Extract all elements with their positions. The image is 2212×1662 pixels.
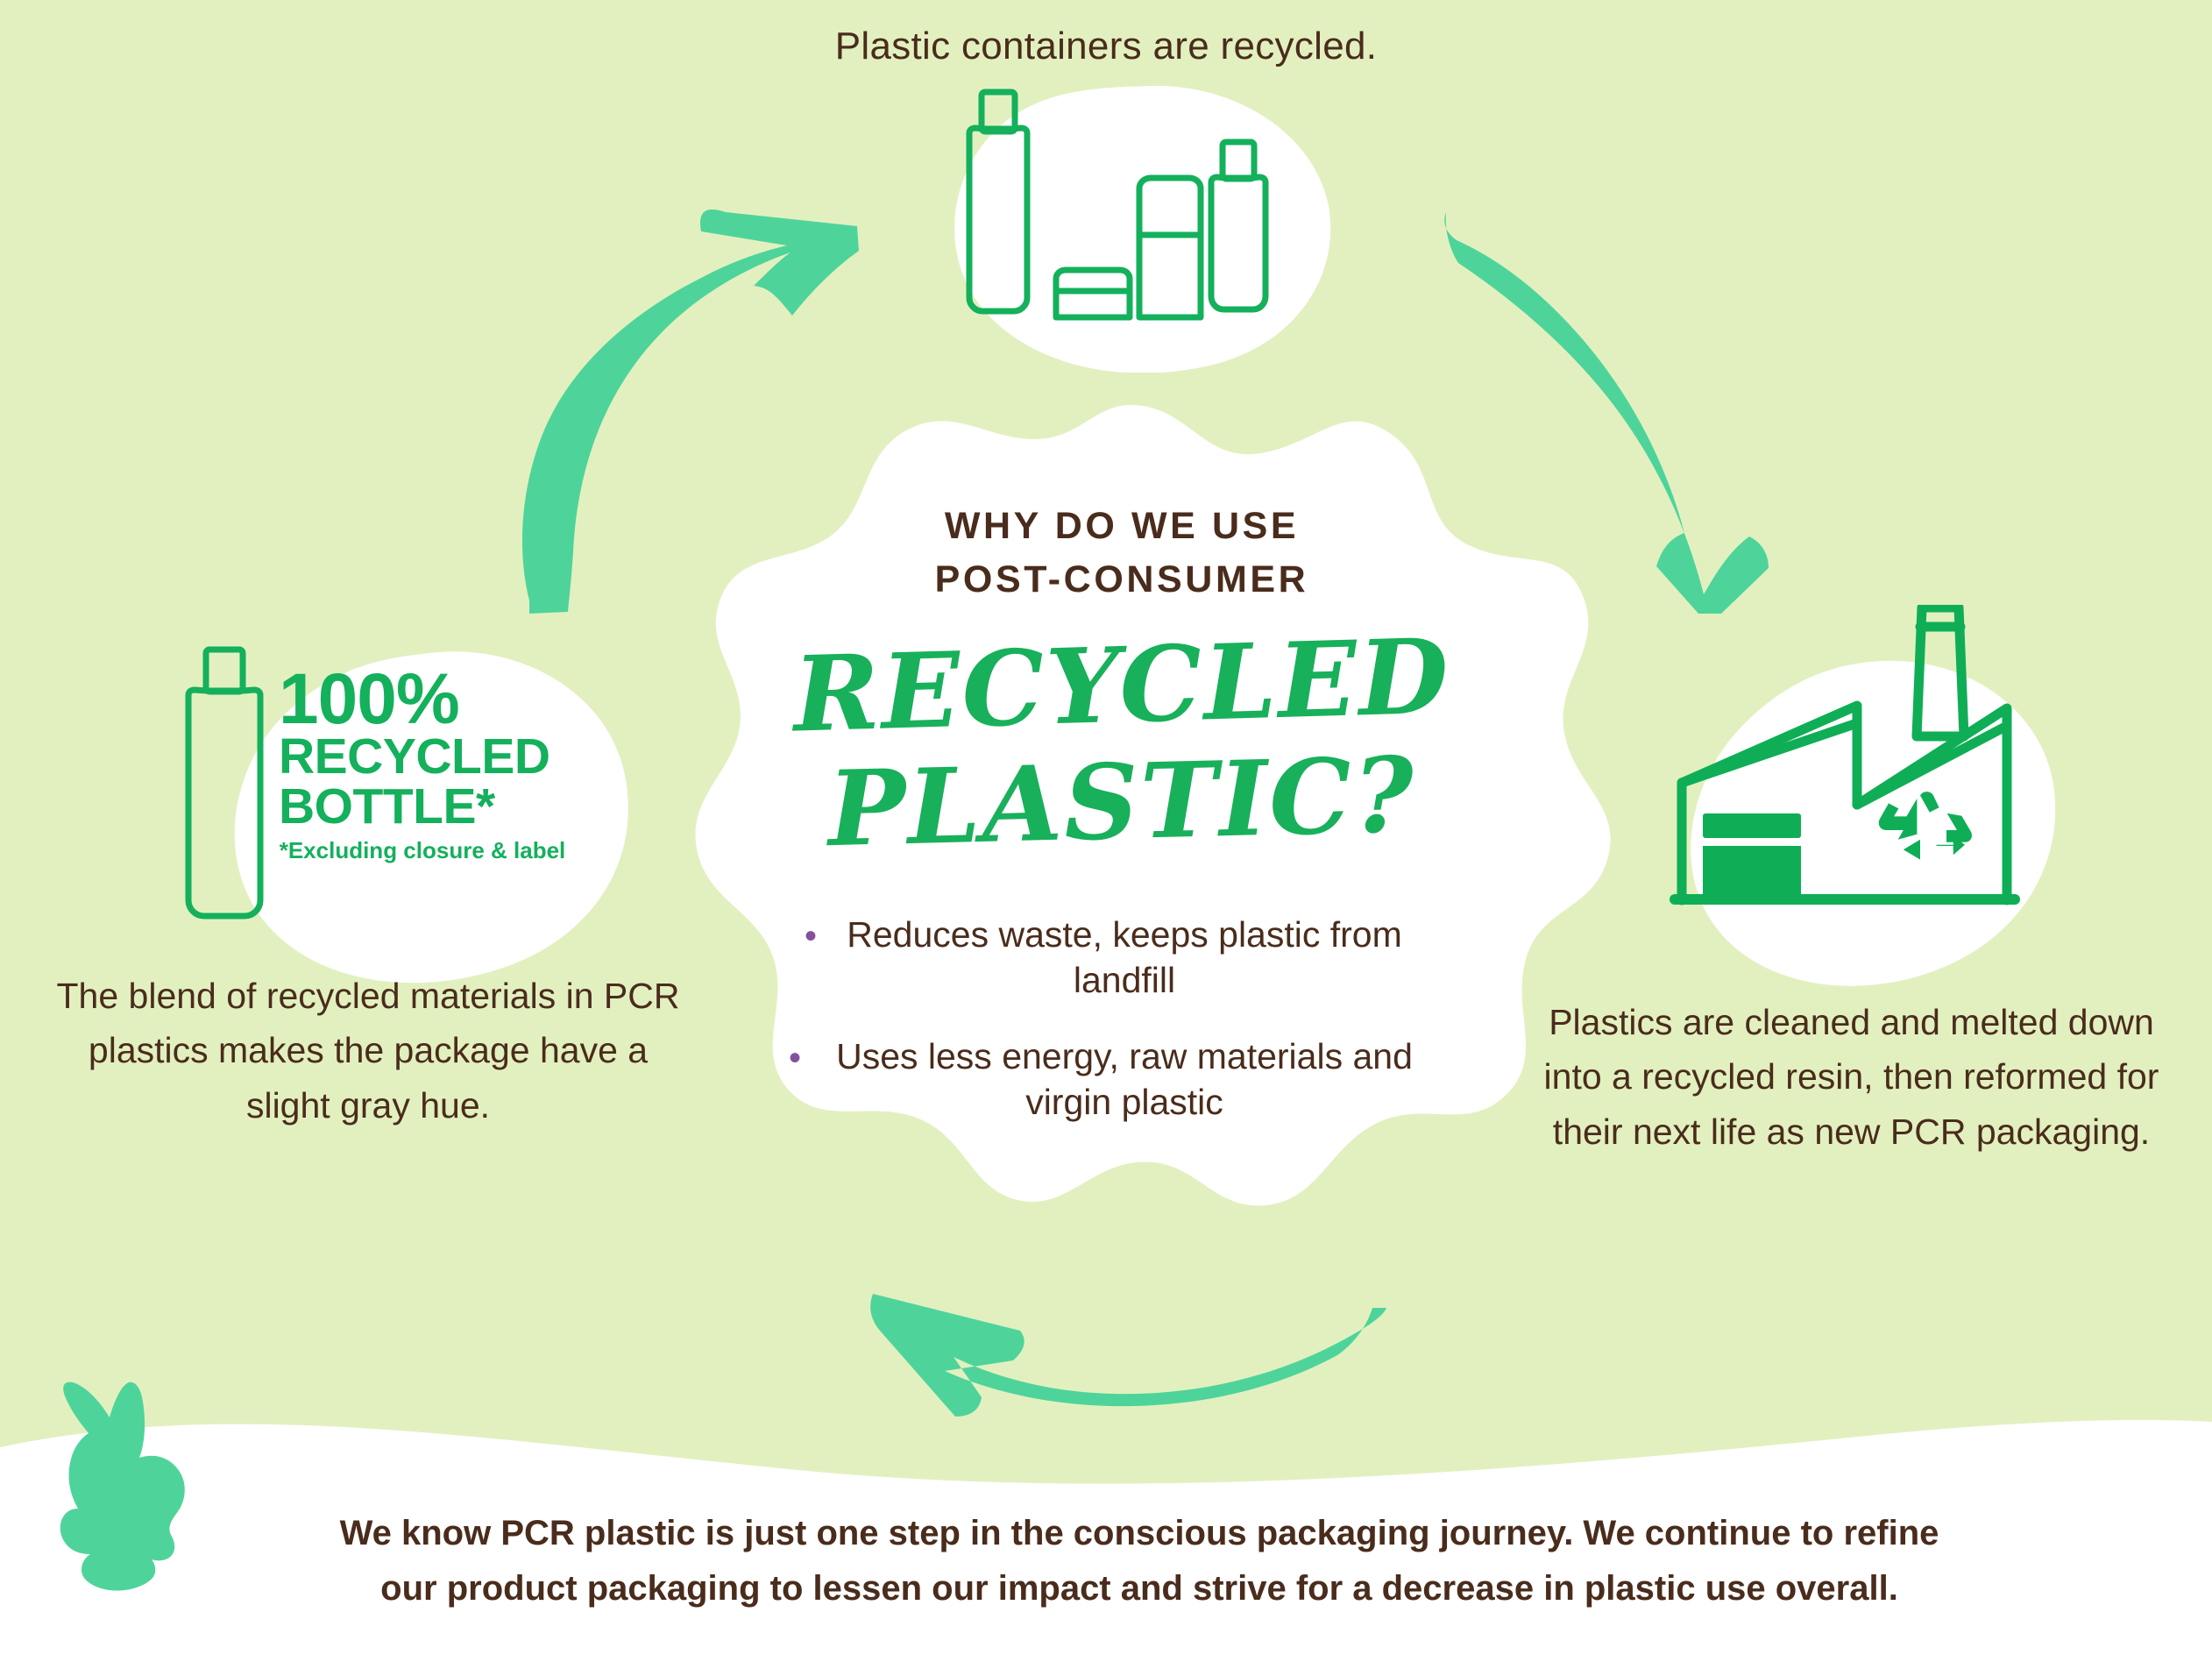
- left-paragraph: The blend of recycled materials in PCR p…: [53, 969, 684, 1133]
- bullet-dot-icon: •: [789, 1041, 801, 1076]
- badge-bullet-list: • Reduces waste, keeps plastic from land…: [805, 912, 1444, 1155]
- list-item: • Reduces waste, keeps plastic from land…: [805, 912, 1444, 1004]
- bullet-text: Uses less energy, raw materials and virg…: [812, 1033, 1437, 1126]
- right-paragraph: Plastics are cleaned and melted down int…: [1525, 995, 2178, 1159]
- bullet-dot-icon: •: [805, 919, 817, 954]
- badge-heading-line2: POST-CONSUMER: [841, 553, 1402, 607]
- script-plastic: PLASTIC?: [726, 731, 1517, 872]
- footer-line1: We know PCR plastic is just one step in …: [175, 1506, 2103, 1561]
- footer-line2: our product packaging to lessen our impa…: [175, 1561, 2103, 1616]
- infographic-canvas: Plastic containers are recycled. WHY DO …: [0, 0, 2212, 1662]
- lockup-bottle: BOTTLE*: [279, 782, 594, 832]
- bottle-outline-icon: [180, 644, 294, 934]
- lockup-recycled: RECYCLED: [279, 732, 594, 782]
- list-item: • Uses less energy, raw materials and vi…: [805, 1033, 1444, 1126]
- lockup-footnote: *Excluding closure & label: [265, 837, 580, 864]
- badge-heading-line1: WHY DO WE USE: [841, 500, 1402, 553]
- footer-message: We know PCR plastic is just one step in …: [175, 1506, 2103, 1616]
- top-caption: Plastic containers are recycled.: [0, 25, 2212, 68]
- factory-recycling-icon: [1670, 605, 2116, 929]
- bullet-text: Reduces waste, keeps plastic from landfi…: [812, 912, 1437, 1004]
- recycled-bottle-lockup: 100% RECYCLED BOTTLE* *Excluding closure…: [279, 666, 594, 864]
- lockup-percent: 100%: [279, 666, 594, 732]
- badge-heading: WHY DO WE USE POST-CONSUMER: [841, 500, 1402, 607]
- plastic-containers-icon: [960, 88, 1310, 368]
